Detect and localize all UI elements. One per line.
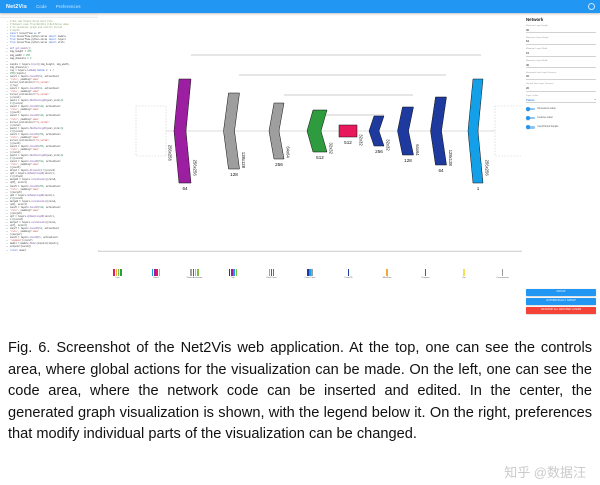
layer-colors-select[interactable]: Layer Colors Palette bbox=[526, 95, 596, 103]
network-graph-svg[interactable]: 256x256256x25664128x12812864x6425632x325… bbox=[98, 13, 522, 250]
legend-item-label: Down Activation bbox=[187, 277, 203, 279]
legend-item[interactable]: Concatenate bbox=[488, 269, 518, 279]
legend-swatch bbox=[425, 269, 427, 276]
graph-layer-input[interactable]: 256x256 bbox=[136, 106, 172, 161]
code-area[interactable]: 1# Net Lab Theano Keras Unet file.2# Net… bbox=[0, 13, 99, 330]
layer-dimension-label: 128x128 bbox=[241, 152, 246, 169]
legend-swatch bbox=[307, 269, 313, 276]
preferences-buttons[interactable]: GROUPAUTOMATICALLY GROUPUNGROUP ALL GROU… bbox=[526, 289, 596, 316]
legend-item[interactable]: Final bbox=[141, 269, 171, 279]
graph-layer-conv4[interactable]: 32x32512 bbox=[307, 110, 333, 160]
layer-colors-value: Palette bbox=[526, 98, 535, 102]
legend-item-label: Pool Conv bbox=[266, 277, 276, 279]
legend-item[interactable]: Dropout bbox=[411, 269, 441, 279]
preference-toggle-label: Features Label bbox=[537, 117, 552, 119]
graph-layer-conv3[interactable]: 64x64256 bbox=[269, 103, 290, 167]
preferences-fields[interactable]: Minimum Layer Height30Maximum Layer Heig… bbox=[526, 25, 596, 92]
legend-item-label: Concatenate bbox=[496, 277, 508, 279]
legend-item[interactable]: Pool Conv bbox=[257, 269, 287, 279]
code-text: img_channels = 3 bbox=[10, 57, 31, 60]
preference-field-value[interactable]: 20 bbox=[526, 74, 596, 80]
preference-field[interactable]: Maximum Layer Width40 bbox=[526, 60, 596, 68]
legend-item-label: Up bbox=[232, 277, 235, 279]
preference-toggle-label: Input/Output Sample bbox=[537, 126, 558, 128]
layer-dimension-label: 64x64 bbox=[415, 144, 420, 156]
legend-swatch bbox=[502, 269, 504, 276]
legend-swatch bbox=[229, 269, 237, 276]
graph-layer-conv5[interactable]: 32x32256 bbox=[369, 116, 390, 154]
layer-dimension-label: 256x256 bbox=[167, 145, 172, 162]
legend-item[interactable]: Up bbox=[218, 269, 248, 279]
legend-item-label: Dropout bbox=[422, 277, 430, 279]
watermark: 知乎 @数据汪 bbox=[504, 462, 586, 481]
graph-canvas[interactable]: 256x256256x25664128x12812864x6425632x325… bbox=[98, 13, 523, 250]
legend-swatch bbox=[190, 269, 198, 276]
legend-item[interactable]: Down Activation bbox=[180, 269, 210, 279]
code-text: from tensorflow.python.keras import util… bbox=[10, 41, 65, 44]
layer-feature-label: 64 bbox=[438, 168, 444, 173]
preferences-area[interactable]: Network Minimum Layer Height30Maximum La… bbox=[522, 13, 600, 330]
graph-layer-conv7[interactable]: 128x12864 bbox=[431, 97, 453, 173]
preference-field[interactable]: Maximum Layer Height64 bbox=[526, 37, 596, 45]
layer-feature-label: 512 bbox=[344, 140, 352, 145]
preference-toggle-label: Dimensions Label bbox=[537, 108, 555, 110]
legend-items: LowFinalDown ActivationUpPool ConvConv C… bbox=[98, 269, 522, 279]
account-circle-icon[interactable] bbox=[588, 3, 595, 10]
app-bar: Net2Vis Code Preferences bbox=[0, 0, 600, 13]
layer-feature-label: 64 bbox=[182, 186, 188, 191]
menu-item-code[interactable]: Code bbox=[36, 4, 47, 9]
preferences-toggles[interactable]: Dimensions LabelFeatures LabelInput/Outp… bbox=[526, 107, 596, 129]
legend-area[interactable]: LowFinalDown ActivationUpPool ConvConv C… bbox=[98, 251, 523, 330]
legend-swatch bbox=[269, 269, 275, 276]
preference-button[interactable]: AUTOMATICALLY GROUP bbox=[526, 298, 596, 305]
graph-layer-conv6[interactable]: 64x64128 bbox=[398, 107, 420, 163]
legend-item-label: MaxPool bbox=[383, 277, 392, 279]
layer-dimension-label: 32x32 bbox=[328, 143, 333, 155]
preferences-heading: Network bbox=[526, 17, 596, 22]
legend-item[interactable]: MaxPool bbox=[372, 269, 402, 279]
graph-layer-drop4[interactable]: 32x32512 bbox=[339, 125, 363, 146]
graph-layer-conv2[interactable]: 128x128128 bbox=[224, 93, 246, 177]
legend-item-label: Conv2D bbox=[345, 277, 353, 279]
legend-swatch bbox=[113, 269, 121, 276]
preference-field-value[interactable]: 15 bbox=[526, 51, 596, 57]
toggle-switch-icon[interactable] bbox=[526, 125, 535, 129]
figure-caption: Fig. 6. Screenshot of the Net2Vis web ap… bbox=[0, 338, 600, 446]
legend-item-label: Final bbox=[154, 277, 159, 279]
preference-field-value[interactable]: 20 bbox=[526, 86, 596, 92]
legend-item[interactable]: Up bbox=[449, 269, 479, 279]
legend-item[interactable]: Conv2D bbox=[334, 269, 364, 279]
preference-toggle[interactable]: Features Label bbox=[526, 116, 596, 120]
layer-dimension-label: 64x64 bbox=[285, 146, 290, 158]
legend-item-label: Up bbox=[463, 277, 466, 279]
layer-feature-label: 256 bbox=[275, 162, 283, 167]
layer-dimension-label: 256x256 bbox=[484, 160, 489, 177]
layer-dimension-label: 256x256 bbox=[192, 160, 197, 177]
legend-item[interactable]: Low bbox=[103, 269, 133, 279]
layer-feature-label: 128 bbox=[230, 172, 238, 177]
legend-item[interactable]: Conv Conv bbox=[295, 269, 325, 279]
code-text: return model bbox=[10, 249, 26, 252]
legend-swatch bbox=[386, 269, 388, 276]
toggle-switch-icon[interactable] bbox=[526, 107, 535, 111]
chevron-down-icon bbox=[594, 99, 596, 100]
menu-item-preferences[interactable]: Preferences bbox=[56, 4, 81, 9]
layer-feature-label: 1 bbox=[477, 186, 480, 191]
line-number: 76 bbox=[0, 249, 10, 252]
preference-field-value[interactable]: 30 bbox=[526, 28, 596, 34]
preference-button[interactable]: UNGROUP ALL GROUPED LAYERS bbox=[526, 307, 596, 314]
preference-field[interactable]: Minimum Layer Height30 bbox=[526, 25, 596, 33]
preference-field[interactable]: Minimum Layer Width15 bbox=[526, 48, 596, 56]
layer-feature-label: 512 bbox=[316, 155, 324, 160]
preference-button[interactable]: GROUP bbox=[526, 289, 596, 296]
layer-dimension-label: 32x32 bbox=[358, 134, 363, 146]
layer-dimension-label: 128x128 bbox=[448, 150, 453, 167]
legend-swatch bbox=[152, 269, 160, 276]
layer-feature-label: 256 bbox=[375, 149, 383, 154]
preference-field[interactable]: Vertical Inter Layer Distance20 bbox=[526, 83, 596, 91]
legend-swatch bbox=[348, 269, 350, 276]
toggle-switch-icon[interactable] bbox=[526, 116, 535, 120]
legend-item-label: Low bbox=[115, 277, 119, 279]
preference-field[interactable]: Horizontal Inter Layer Distance20 bbox=[526, 72, 596, 80]
graph-layer-conv1[interactable]: 256x25664 bbox=[174, 79, 197, 191]
legend-swatch bbox=[463, 269, 465, 276]
preference-toggle[interactable]: Input/Output Sample bbox=[526, 125, 596, 129]
legend-item-label: Conv Conv bbox=[305, 277, 316, 279]
preference-field-value[interactable]: 40 bbox=[526, 63, 596, 69]
app-title: Net2Vis bbox=[6, 4, 27, 10]
layer-dimension-label: 32x32 bbox=[385, 139, 390, 151]
code-line[interactable]: 76 return model bbox=[0, 249, 98, 252]
layer-feature-label: 128 bbox=[404, 158, 412, 163]
app-screenshot: Net2Vis Code Preferences 1# Net Lab Thea… bbox=[0, 0, 600, 330]
preference-toggle[interactable]: Dimensions Label bbox=[526, 107, 596, 111]
graph-layer-conv8[interactable]: 256x2561 bbox=[468, 79, 489, 191]
code-editor-lines[interactable]: 1# Net Lab Theano Keras Unet file.2# Net… bbox=[0, 18, 98, 252]
graph-layer-output[interactable] bbox=[495, 106, 522, 156]
preference-field-value[interactable]: 64 bbox=[526, 39, 596, 45]
